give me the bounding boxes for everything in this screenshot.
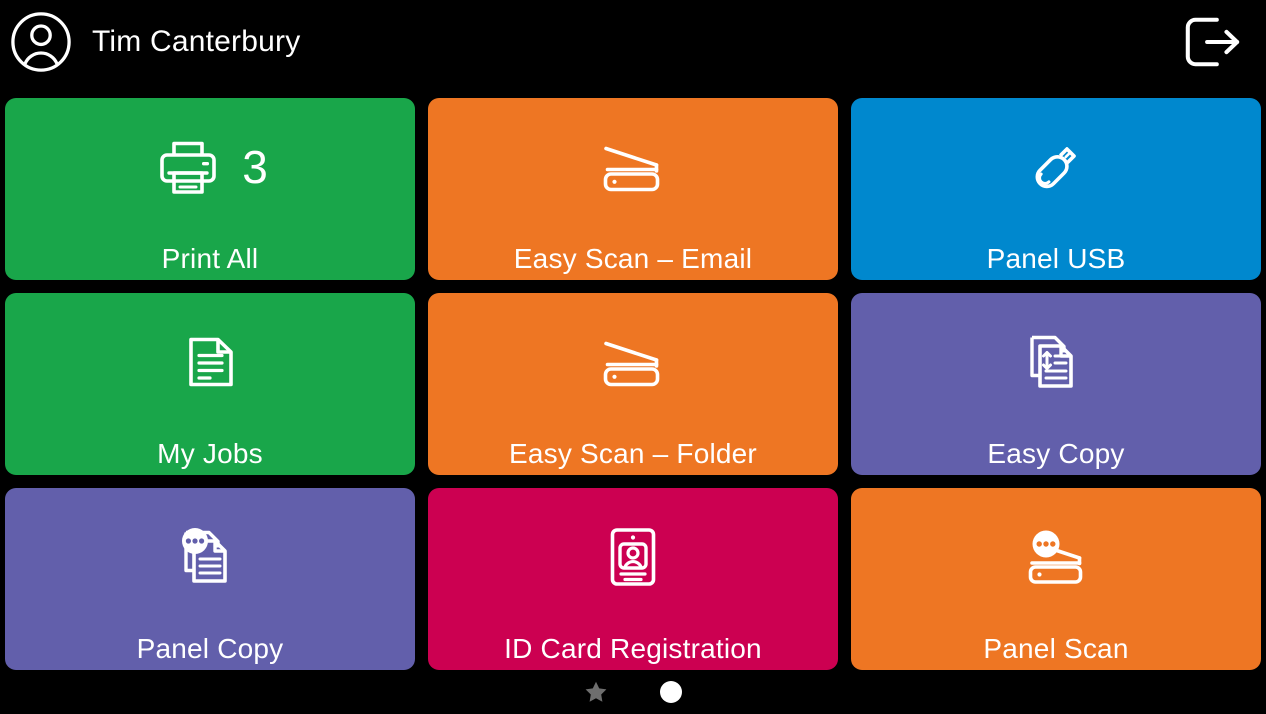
tile-label: Easy Copy	[857, 438, 1255, 470]
tile-label: Easy Scan – Folder	[434, 438, 832, 470]
logout-icon	[1180, 13, 1242, 71]
printer-icon	[152, 131, 224, 203]
tile-icon-row	[428, 488, 838, 626]
tile-icon-row	[851, 293, 1261, 431]
page-dot-1[interactable]	[660, 681, 682, 703]
tile-label: Print All	[11, 243, 409, 275]
user-avatar-icon	[10, 11, 72, 73]
id-card-icon	[597, 521, 669, 593]
tile-panel-scan[interactable]: Panel Scan	[851, 488, 1261, 670]
scanner-icon	[597, 131, 669, 203]
tile-label: Panel Copy	[11, 633, 409, 665]
tile-easy-scan-email[interactable]: Easy Scan – Email	[428, 98, 838, 280]
tile-icon-row: 3	[5, 98, 415, 236]
scanner-icon	[597, 326, 669, 398]
tile-panel-copy[interactable]: Panel Copy	[5, 488, 415, 670]
document-icon	[174, 326, 246, 398]
tile-easy-copy[interactable]: Easy Copy	[851, 293, 1261, 475]
tile-easy-scan-folder[interactable]: Easy Scan – Folder	[428, 293, 838, 475]
user-name-label: Tim Canterbury	[92, 25, 300, 59]
tile-icon-row	[428, 293, 838, 431]
tile-label: Panel USB	[857, 243, 1255, 275]
scanner-ellipsis-icon	[1020, 521, 1092, 593]
star-icon[interactable]	[584, 680, 608, 704]
tile-icon-row	[428, 98, 838, 236]
tile-label: ID Card Registration	[434, 633, 832, 665]
tile-grid: 3 Print All Easy Scan – Email	[5, 98, 1261, 670]
usb-drive-icon	[1020, 131, 1092, 203]
tile-label: My Jobs	[11, 438, 409, 470]
tile-label: Easy Scan – Email	[434, 243, 832, 275]
tile-icon-row	[851, 98, 1261, 236]
tile-my-jobs[interactable]: My Jobs	[5, 293, 415, 475]
tile-print-all[interactable]: 3 Print All	[5, 98, 415, 280]
header-bar: Tim Canterbury	[0, 0, 1266, 84]
tile-icon-row	[5, 293, 415, 431]
current-user[interactable]: Tim Canterbury	[10, 11, 1178, 73]
tile-id-card-registration[interactable]: ID Card Registration	[428, 488, 838, 670]
tile-icon-row	[5, 488, 415, 626]
page-indicator-bar	[0, 670, 1266, 714]
copy-documents-icon	[1020, 326, 1092, 398]
panel-screen: Tim Canterbury	[0, 0, 1266, 714]
logout-button[interactable]	[1178, 11, 1244, 73]
tile-panel-usb[interactable]: Panel USB	[851, 98, 1261, 280]
print-job-count-badge: 3	[242, 144, 268, 190]
documents-ellipsis-icon	[174, 521, 246, 593]
tile-icon-row	[851, 488, 1261, 626]
tile-label: Panel Scan	[857, 633, 1255, 665]
